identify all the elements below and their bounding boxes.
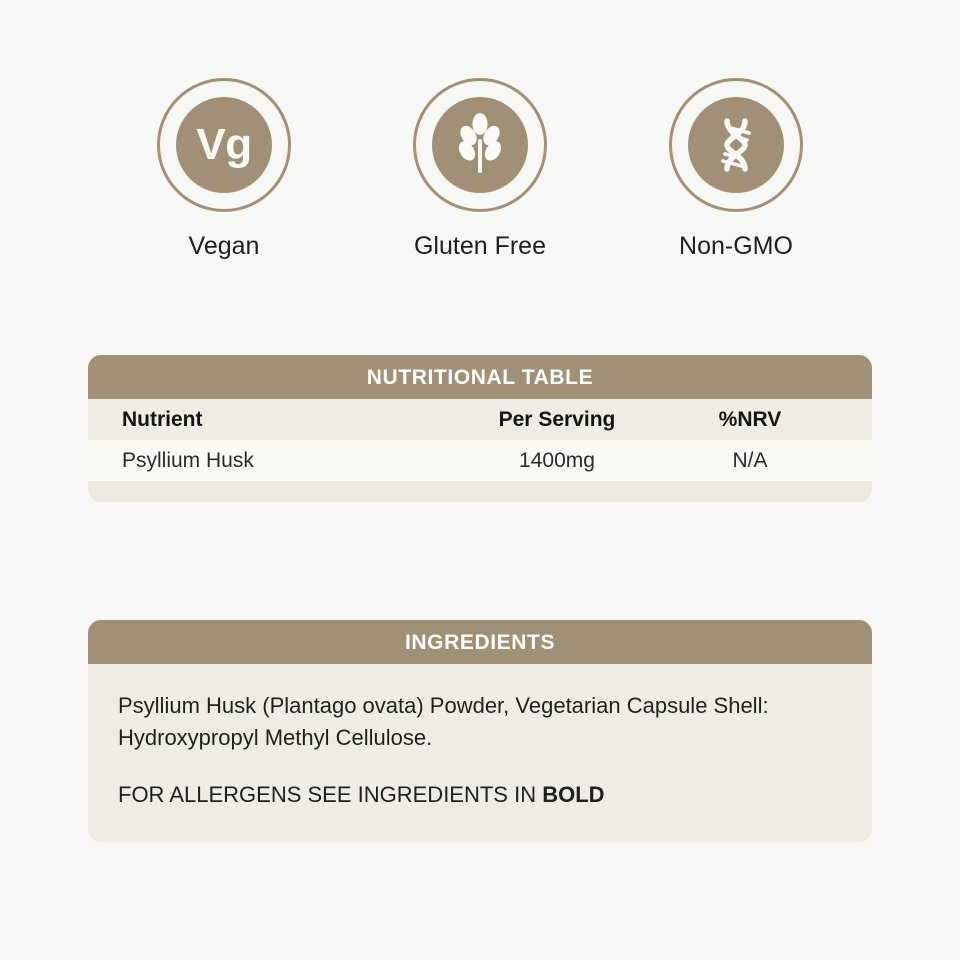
dna-helix-icon <box>688 97 784 193</box>
ingredients-body: Psyllium Husk (Plantago ovata) Powder, V… <box>88 664 872 842</box>
vegan-vg-glyph: Vg <box>196 123 251 167</box>
table-footer-strip <box>88 481 872 502</box>
nutritional-table-header: NUTRITIONAL TABLE <box>88 355 872 399</box>
ingredients-title: INGREDIENTS <box>405 632 555 653</box>
badge-ring-vegan: Vg <box>157 78 291 212</box>
nutritional-table-card: NUTRITIONAL TABLE Nutrient Per Serving %… <box>88 355 872 502</box>
column-header-per-serving: Per Serving <box>452 409 662 430</box>
column-header-nrv: %NRV <box>662 409 838 430</box>
badge-label-gluten-free: Gluten Free <box>414 234 546 259</box>
badge-label-vegan: Vegan <box>189 234 260 259</box>
badge-gluten-free: Gluten Free <box>395 78 565 259</box>
ingredients-card: INGREDIENTS Psyllium Husk (Plantago ovat… <box>88 620 872 842</box>
cell-nutrient: Psyllium Husk <box>122 450 452 471</box>
cell-nrv: N/A <box>662 450 838 471</box>
allergen-notice-prefix: FOR ALLERGENS SEE INGREDIENTS IN <box>118 782 542 807</box>
badge-ring-gluten-free <box>413 78 547 212</box>
table-column-headers: Nutrient Per Serving %NRV <box>88 399 872 440</box>
vegan-vg-icon: Vg <box>176 97 272 193</box>
ingredients-header: INGREDIENTS <box>88 620 872 664</box>
badge-non-gmo: Non-GMO <box>651 78 821 259</box>
badge-ring-non-gmo <box>669 78 803 212</box>
nutritional-table-title: NUTRITIONAL TABLE <box>367 367 593 388</box>
product-info-panel: Vg Vegan <box>0 0 960 960</box>
badge-label-non-gmo: Non-GMO <box>679 234 793 259</box>
column-header-nutrient: Nutrient <box>122 409 452 430</box>
allergen-notice-bold: BOLD <box>542 782 604 807</box>
certification-badge-row: Vg Vegan <box>0 78 960 259</box>
allergen-notice: FOR ALLERGENS SEE INGREDIENTS IN BOLD <box>118 782 842 808</box>
cell-per-serving: 1400mg <box>452 450 662 471</box>
ingredients-text: Psyllium Husk (Plantago ovata) Powder, V… <box>118 690 842 754</box>
wheat-icon <box>432 97 528 193</box>
table-row: Psyllium Husk 1400mg N/A <box>88 440 872 481</box>
badge-vegan: Vg Vegan <box>139 78 309 259</box>
